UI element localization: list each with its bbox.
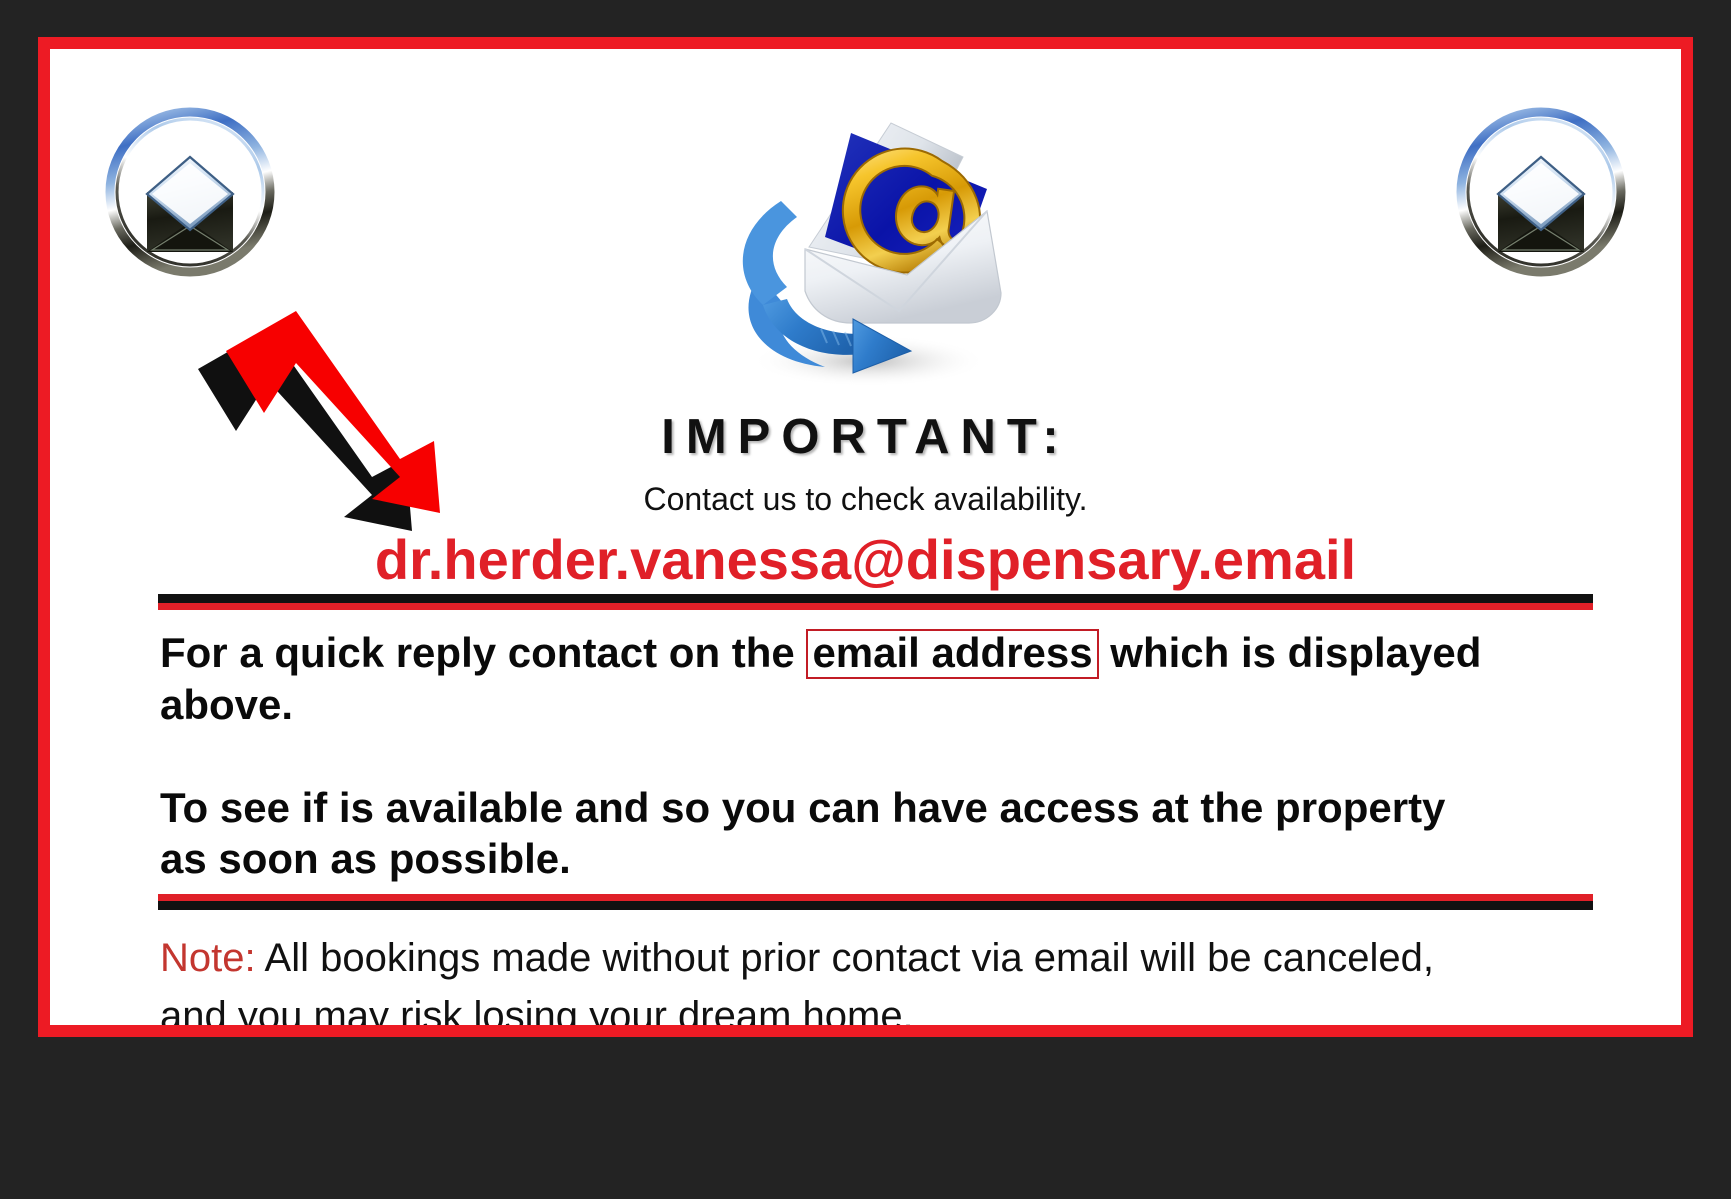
- paragraph-two: To see if is available and so you can ha…: [160, 782, 1490, 884]
- divider-bottom: [158, 894, 1593, 910]
- page-title: IMPORTANT:: [50, 409, 1681, 465]
- divider-top: [158, 594, 1593, 610]
- divider-red-bar: [158, 603, 1593, 610]
- red-border: IMPORTANT: Contact us to check availabil…: [38, 37, 1693, 1037]
- poster-frame: IMPORTANT: Contact us to check availabil…: [0, 0, 1731, 1199]
- envelope-circle-icon: [1446, 104, 1636, 279]
- note-section: Note: All bookings made without prior co…: [160, 929, 1510, 1025]
- body-content: For a quick reply contact on the email a…: [160, 627, 1490, 919]
- email-address-text[interactable]: dr.herder.vanessa@dispensary.email: [50, 527, 1681, 592]
- email-address-highlight[interactable]: email address: [806, 629, 1098, 679]
- subtitle-text: Contact us to check availability.: [50, 481, 1681, 518]
- at-symbol-envelope-icon: [701, 61, 1031, 391]
- paragraph-one-prefix: For a quick reply contact on the: [160, 629, 806, 676]
- note-label: Note:: [160, 936, 256, 980]
- note-text: All bookings made without prior contact …: [160, 936, 1434, 1025]
- divider-black-bar: [158, 594, 1593, 603]
- divider-red-bar: [158, 894, 1593, 901]
- divider-black-bar: [158, 901, 1593, 910]
- envelope-circle-icon: [95, 104, 285, 279]
- notice-card: IMPORTANT: Contact us to check availabil…: [50, 49, 1681, 1025]
- paragraph-one: For a quick reply contact on the email a…: [160, 627, 1490, 730]
